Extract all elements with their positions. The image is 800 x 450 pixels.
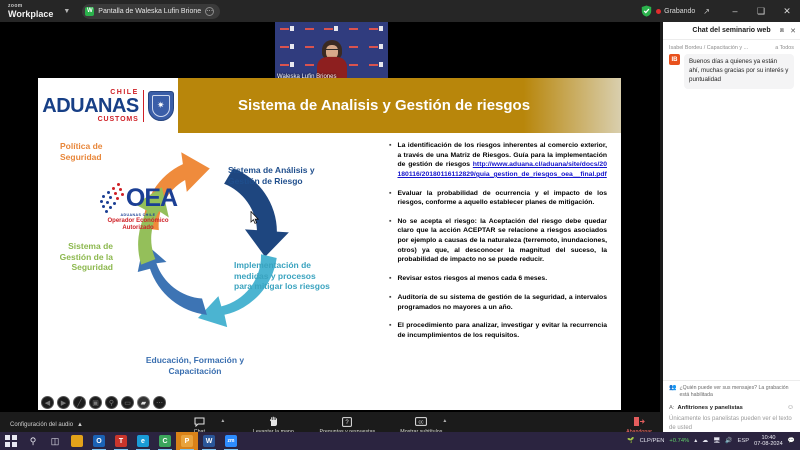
presenter-video-thumbnail[interactable]: Waleska Lufin Briones xyxy=(275,22,388,82)
record-dot-icon xyxy=(656,9,661,14)
tab-shared-screen[interactable]: W Pantalla de Waleska Lufin Brione ⋯ xyxy=(82,4,220,19)
audio-settings-label: Configuración del audio xyxy=(10,422,73,428)
chat-panel-title: Chat del seminario web xyxy=(692,27,770,34)
windows-taskbar: ⚲ ◫ O T e C P W zm 🌱 CLP/PEN +0.74% ▴ ☁ … xyxy=(0,432,800,450)
bullet-icon: ▪ xyxy=(389,321,391,340)
page-title: Sistema de Analisis y Gestión de riesgos xyxy=(238,97,530,114)
language-indicator[interactable]: ESP xyxy=(738,438,750,444)
tab-label: Pantalla de Waleska Lufin Brione xyxy=(98,8,201,15)
zoom-logo-main: Workplace xyxy=(8,10,53,19)
recipient-label: A: xyxy=(669,405,674,411)
cloud-icon[interactable]: ☁ xyxy=(702,438,708,444)
slide-header: CHILE ADUANAS CUSTOMS ✷ Sistema de Anali… xyxy=(38,78,621,133)
diagram-label-sistema-gestion: Sistema de Gestión de la Seguridad xyxy=(41,241,113,273)
slide-body: OEA ADUANAS CHILE Operador Económico Aut… xyxy=(38,133,621,410)
logo-divider xyxy=(143,90,144,122)
message-meta: Isabel Bordeu / Capacitación y ... a Tod… xyxy=(669,45,794,51)
list-item: ▪ Evaluar la probabilidad de ocurrencia … xyxy=(389,189,607,208)
file-explorer-icon[interactable] xyxy=(66,432,88,450)
list-item: ▪ La identificación de los riesgos inher… xyxy=(389,141,607,180)
list-item: ▪ Revisar estos riesgos al menos cada 6 … xyxy=(389,274,607,284)
clock-date: 07-08-2024 xyxy=(754,441,783,447)
backdrop-logo-row xyxy=(275,26,388,31)
edge-icon[interactable]: e xyxy=(132,432,154,450)
diagram-label-implementacion: Implementación de medidas y procesos par… xyxy=(234,260,332,292)
bullet-text: Evaluar la probabilidad de ocurrencia y … xyxy=(397,189,607,208)
bullet-text: Revisar estos riesgos al menos cada 6 me… xyxy=(397,274,547,284)
clock[interactable]: 10:40 07-08-2024 xyxy=(754,435,783,448)
message-recipient: a Todos xyxy=(775,45,794,51)
chevron-down-icon[interactable]: ▼ xyxy=(63,8,70,15)
slide-controls-bar: ◀ ▶ ╱ ▣ ⚲ ▭ ▰ ⋯ xyxy=(38,394,178,411)
bullet-list: ▪ La identificación de los riesgos inher… xyxy=(389,141,607,341)
bullet-icon: ▪ xyxy=(389,189,391,208)
bullet-icon: ▪ xyxy=(389,293,391,312)
list-item: ▪ El procedimiento para analizar, invest… xyxy=(389,321,607,340)
more-options-icon[interactable]: ⋯ xyxy=(153,396,166,409)
chevron-up-icon[interactable]: ▲ xyxy=(77,422,83,428)
chat-header-actions: ⧈ ✕ xyxy=(780,27,796,35)
raise-hand-icon xyxy=(269,416,278,428)
oea-subtitle-3: Autorizado xyxy=(90,225,186,231)
bullet-icon: ▪ xyxy=(389,141,391,180)
oea-acronym: OEA xyxy=(126,187,177,210)
list-item: ▪ Auditoría de su sistema de gestión de … xyxy=(389,293,607,312)
currency-widget-icon: 🌱 xyxy=(627,438,634,444)
shared-slide: CHILE ADUANAS CUSTOMS ✷ Sistema de Anali… xyxy=(38,78,621,410)
recipient-value: Anfitriones y panelistas xyxy=(677,405,742,411)
minimize-button[interactable]: – xyxy=(722,0,748,22)
chat-panel-header: Chat del seminario web ⧈ ✕ xyxy=(663,22,800,40)
qa-icon: ? xyxy=(342,416,352,428)
emoji-icon[interactable]: ☺ xyxy=(787,404,794,411)
zoom-logo: zoom Workplace xyxy=(0,4,53,19)
audio-settings-button[interactable]: Configuración del audio ▲ xyxy=(0,422,83,428)
expand-icon[interactable]: ↗ xyxy=(703,7,710,16)
message-body: Buenos días a quienes ya están ahí, much… xyxy=(684,54,794,89)
logo-aduanas-text: ADUANAS xyxy=(42,96,139,116)
windows-start-icon[interactable] xyxy=(0,432,22,450)
volume-icon[interactable]: 🔊 xyxy=(725,438,732,444)
zoom-logo-small: zoom xyxy=(8,4,53,9)
chat-privacy-note[interactable]: 👥 ¿Quién puede ver sus mensajes? La grab… xyxy=(669,385,794,399)
diagram-label-sistema-analisis: Sistema de Análisis y Gestión de Riesgo xyxy=(228,165,338,186)
zoom-search-icon[interactable]: ⚲ xyxy=(105,396,118,409)
system-tray: 🌱 CLP/PEN +0.74% ▴ ☁ 🖥 🔊 ESP 10:40 07-08… xyxy=(627,435,800,448)
bullet-text: No se acepta el riesgo: la Aceptación de… xyxy=(397,217,607,265)
chat-message-list[interactable]: Isabel Bordeu / Capacitación y ... a Tod… xyxy=(663,40,800,380)
bullet-text: El procedimiento para analizar, investig… xyxy=(397,321,607,340)
chat-bubble-icon xyxy=(194,416,205,428)
chevron-up-icon[interactable]: ▴ xyxy=(694,438,697,444)
chat-message: IB Buenos días a quienes ya están ahí, m… xyxy=(669,54,794,89)
window-controls-group: Grabando ↗ – ❑ ✕ xyxy=(641,0,800,22)
slide-layout-icon[interactable]: ▭ xyxy=(121,396,134,409)
privacy-note-text: ¿Quién puede ver sus mensajes? La grabac… xyxy=(679,385,794,399)
chevron-up-icon[interactable]: ▲ xyxy=(220,418,225,424)
message-sender: Isabel Bordeu / Capacitación y ... xyxy=(669,45,748,51)
slide-title-bar: Sistema de Analisis y Gestión de riesgos xyxy=(178,78,621,133)
video-share-icon[interactable]: ▰ xyxy=(137,396,150,409)
captions-icon: cc xyxy=(415,416,427,428)
bullet-text: Auditoría de su sistema de gestión de la… xyxy=(397,293,607,312)
chat-recipient-row[interactable]: A: Anfitriones y panelistas ☺ xyxy=(669,404,794,411)
avatar: IB xyxy=(669,54,680,65)
task-view-icon[interactable]: ◫ xyxy=(44,432,66,450)
shield-check-icon[interactable] xyxy=(641,5,652,17)
customs-crest-icon: ✷ xyxy=(148,91,174,121)
camera-icon[interactable]: ▣ xyxy=(89,396,102,409)
zoom-title-bar: zoom Workplace ▼ W Pantalla de Waleska L… xyxy=(0,0,800,22)
ellipsis-icon[interactable]: ⋯ xyxy=(205,7,214,16)
people-icon: 👥 xyxy=(669,385,676,392)
aduanas-logo: CHILE ADUANAS CUSTOMS ✷ xyxy=(38,78,178,133)
popout-icon[interactable]: ⧈ xyxy=(780,27,784,35)
screen: zoom Workplace ▼ W Pantalla de Waleska L… xyxy=(0,0,800,450)
chat-composer: 👥 ¿Quién puede ver sus mensajes? La grab… xyxy=(663,380,800,438)
annotate-pen-icon[interactable]: ╱ xyxy=(73,396,86,409)
leave-meeting-icon xyxy=(633,416,645,428)
maximize-button[interactable]: ❑ xyxy=(748,0,774,22)
chevron-up-icon[interactable]: ▲ xyxy=(442,418,447,424)
bullet-icon: ▪ xyxy=(389,217,391,265)
network-icon[interactable]: 🖥 xyxy=(713,438,720,444)
share-screen-icon: W xyxy=(85,7,94,16)
slide-bullet-panel: ▪ La identificación de los riesgos inher… xyxy=(383,133,621,410)
zoom-icon[interactable]: zm xyxy=(220,432,242,450)
oea-subtitle-1: ADUANAS CHILE xyxy=(90,213,186,217)
cycle-diagram: OEA ADUANAS CHILE Operador Económico Aut… xyxy=(38,133,383,410)
oea-logo: OEA ADUANAS CHILE Operador Económico Aut… xyxy=(90,183,186,232)
next-slide-icon[interactable]: ▶ xyxy=(57,396,70,409)
chrome-icon[interactable]: C xyxy=(154,432,176,450)
logo-customs-text: CUSTOMS xyxy=(42,116,139,123)
close-icon[interactable]: ✕ xyxy=(790,27,796,35)
recording-label: Grabando xyxy=(664,8,695,15)
outlook-icon[interactable]: O xyxy=(88,432,110,450)
word-icon[interactable]: W xyxy=(198,432,220,450)
diagram-label-politica-seguridad: Política de Seguridad xyxy=(60,141,140,162)
currency-label[interactable]: CLP/PEN xyxy=(640,438,665,444)
currency-change: +0.74% xyxy=(669,438,689,444)
taskbar-app-group: ⚲ ◫ O T e C P W zm xyxy=(0,432,242,450)
oea-dots-icon xyxy=(99,183,125,213)
powerpoint-icon[interactable]: P xyxy=(176,432,198,450)
teams-icon[interactable]: T xyxy=(110,432,132,450)
chat-input[interactable]: Únicamente los panelistas pueden ver el … xyxy=(669,415,794,432)
svg-text:?: ? xyxy=(346,420,350,426)
list-item: ▪ No se acepta el riesgo: la Aceptación … xyxy=(389,217,607,265)
webinar-chat-panel: Chat del seminario web ⧈ ✕ Isabel Bordeu… xyxy=(663,22,800,438)
shared-screen-stage: Waleska Lufin Briones CHILE ADUANAS CUST… xyxy=(0,22,660,412)
bullet-icon: ▪ xyxy=(389,274,391,284)
notifications-icon[interactable]: 💬 xyxy=(788,438,795,444)
recording-indicator[interactable]: Grabando xyxy=(656,8,695,15)
search-icon[interactable]: ⚲ xyxy=(22,432,44,450)
svg-text:cc: cc xyxy=(419,419,425,425)
oea-subtitle-2: Operador Económico xyxy=(90,218,186,224)
close-button[interactable]: ✕ xyxy=(774,0,800,22)
mouse-cursor-icon xyxy=(250,211,259,224)
previous-slide-icon[interactable]: ◀ xyxy=(41,396,54,409)
diagram-label-educacion: Educación, Formación y Capacitación xyxy=(120,355,270,376)
